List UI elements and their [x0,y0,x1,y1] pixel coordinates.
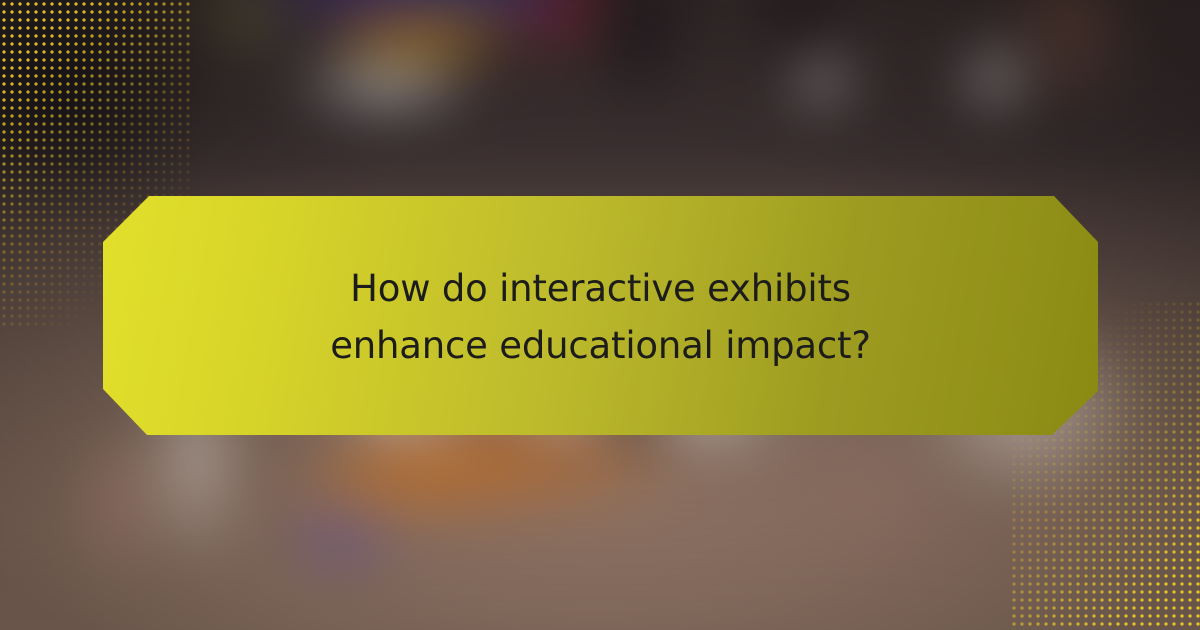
question-card: How do interactive exhibits enhance educ… [103,196,1098,435]
question-text: How do interactive exhibits enhance educ… [271,261,931,373]
social-card-canvas: How do interactive exhibits enhance educ… [0,0,1200,630]
